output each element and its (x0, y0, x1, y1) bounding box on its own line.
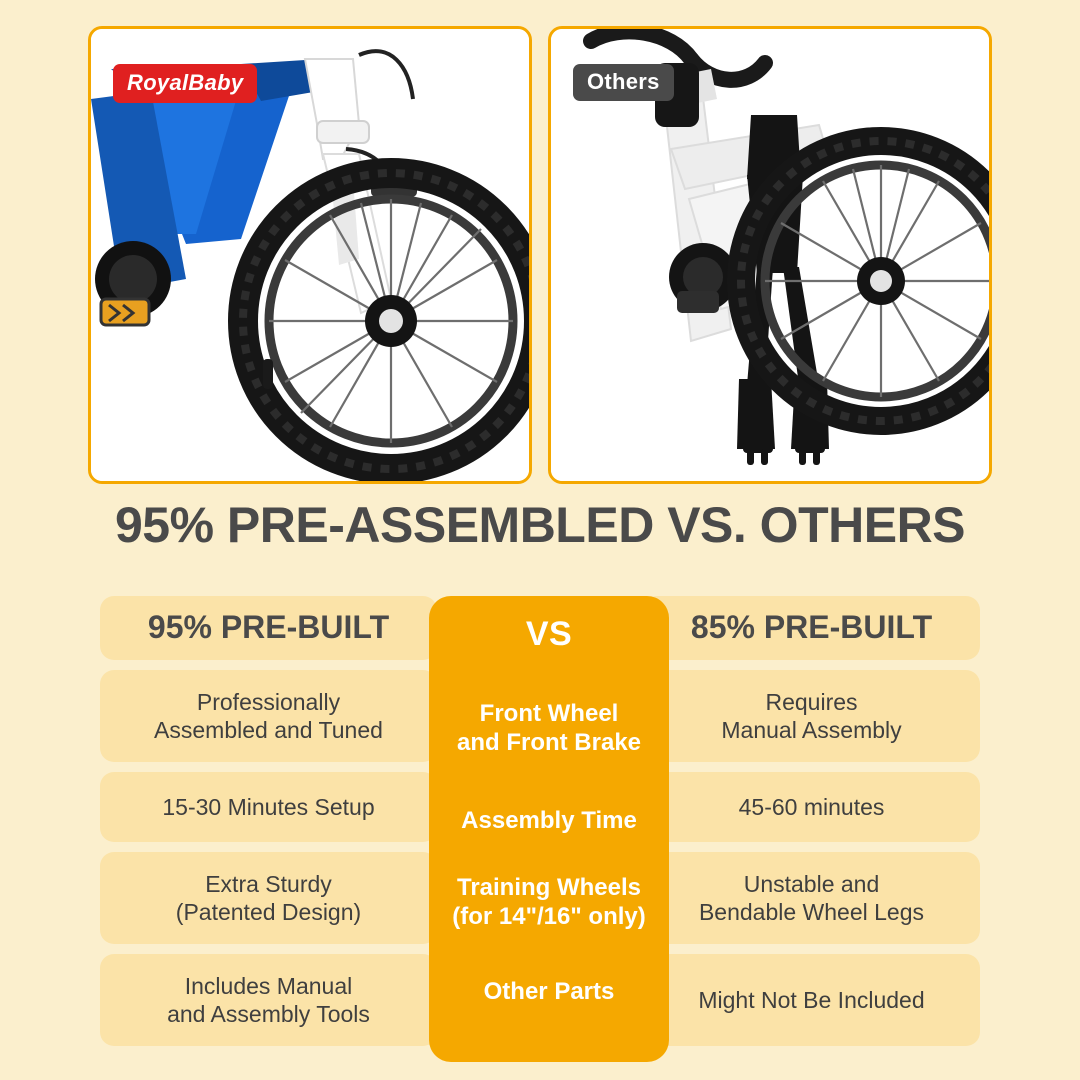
comparison-infographic: RoyalBaby (0, 0, 1080, 1080)
badge-royalbaby-label: RoyalBaby (127, 70, 243, 95)
row3-cell-right: Unstable andBendable Wheel Legs (643, 852, 980, 944)
page-title: 95% PRE-ASSEMBLED VS. OTHERS (0, 496, 1080, 554)
row2-cell-left: 15-30 Minutes Setup (100, 772, 437, 842)
row4-cell-left: Includes Manualand Assembly Tools (100, 954, 437, 1046)
vs-column: VS Front Wheeland Front Brake Assembly T… (429, 596, 669, 1062)
row3-cell-left: Extra Sturdy(Patented Design) (100, 852, 437, 944)
header-cell-right: 85% PRE-BUILT (643, 596, 980, 660)
badge-others-label: Others (587, 69, 660, 94)
vs-row4-label: Other Parts (429, 978, 669, 1007)
badge-others: Others (573, 64, 674, 101)
header-cell-left: 95% PRE-BUILT (100, 596, 437, 660)
vs-label: VS (429, 614, 669, 655)
panel-others: Others (548, 26, 992, 484)
image-panels: RoyalBaby (88, 26, 992, 478)
row1-cell-left: ProfessionallyAssembled and Tuned (100, 670, 437, 762)
row1-cell-right: RequiresManual Assembly (643, 670, 980, 762)
row4-cell-right: Might Not Be Included (643, 954, 980, 1046)
row2-cell-right: 45-60 minutes (643, 772, 980, 842)
badge-royalbaby: RoyalBaby (113, 64, 257, 103)
vs-row1-label: Front Wheeland Front Brake (429, 700, 669, 758)
vs-row2-label: Assembly Time (429, 807, 669, 836)
vs-row3-label: Training Wheels(for 14"/16" only) (429, 874, 669, 932)
panel-royalbaby: RoyalBaby (88, 26, 532, 484)
